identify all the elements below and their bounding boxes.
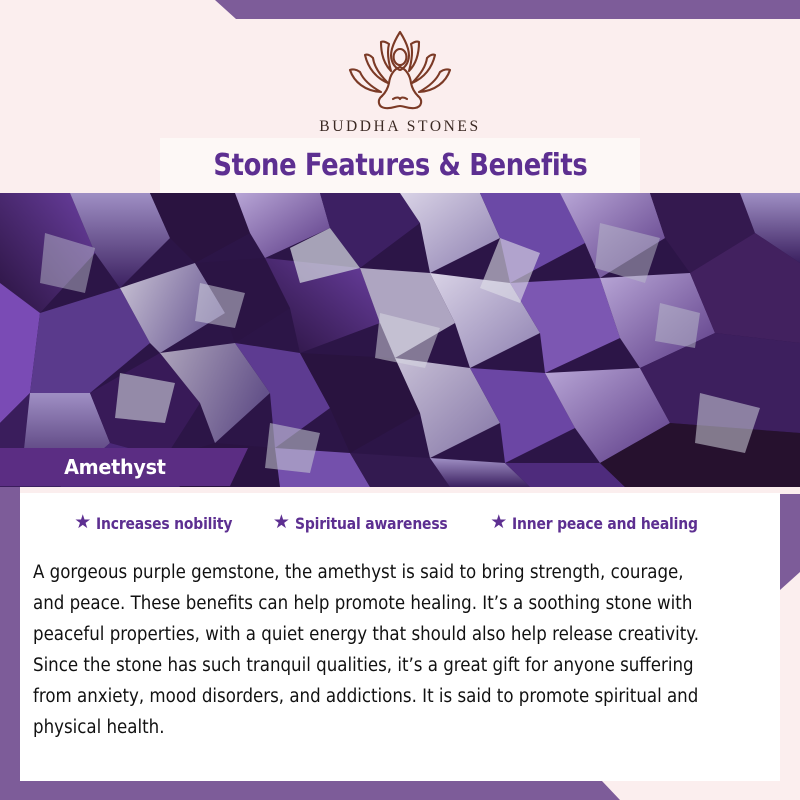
stone-description: A gorgeous purple gemstone, the amethyst…: [33, 557, 715, 743]
title-strip: Stone Features & Benefits: [160, 138, 640, 193]
benefit-item: ★ Increases nobility: [74, 514, 253, 533]
infographic-page: BUDDHA STONES Stone Features & Benefits: [0, 0, 800, 800]
content-card: ★ Increases nobility ★ Spiritual awarene…: [20, 487, 780, 781]
stone-photo: [0, 193, 800, 487]
lotus-meditation-icon: [337, 26, 463, 114]
benefit-item: ★ Spiritual awareness: [273, 514, 470, 533]
stone-name-banner: Amethyst: [0, 448, 248, 486]
left-accent-bar: [0, 487, 20, 800]
star-icon: ★: [74, 513, 91, 532]
page-title: Stone Features & Benefits: [213, 148, 587, 183]
right-accent-tab: [780, 494, 800, 590]
benefit-label: Inner peace and healing: [512, 514, 698, 533]
brand-name: BUDDHA STONES: [0, 118, 800, 136]
star-icon: ★: [490, 513, 507, 532]
amethyst-crystal-cluster-image: [0, 193, 800, 487]
benefit-label: Increases nobility: [96, 514, 232, 533]
card-top-tint: [20, 487, 780, 493]
benefits-list: ★ Increases nobility ★ Spiritual awarene…: [20, 514, 780, 533]
stone-name: Amethyst: [64, 455, 166, 479]
benefit-item: ★ Inner peace and healing: [490, 514, 726, 533]
bottom-accent-band: [0, 781, 620, 800]
brand-logo: BUDDHA STONES: [0, 26, 800, 136]
benefit-label: Spiritual awareness: [295, 514, 448, 533]
star-icon: ★: [273, 513, 290, 532]
